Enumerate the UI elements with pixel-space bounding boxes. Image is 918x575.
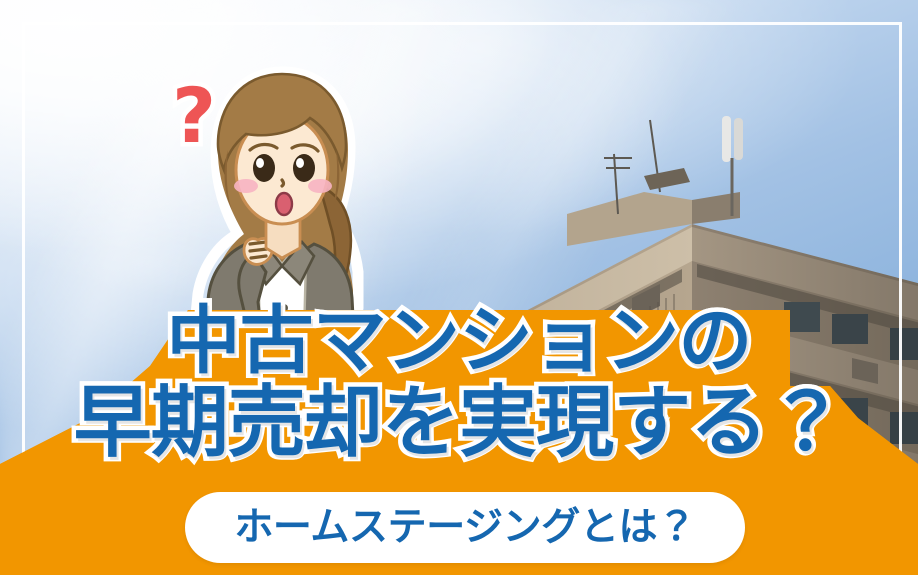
eye-left: [253, 154, 275, 182]
question-mark-icon: ?: [172, 71, 216, 160]
eye-right: [293, 154, 315, 182]
mouth: [276, 193, 292, 215]
roof-box: [644, 168, 690, 190]
subtitle-pill-text-top: ホームステージングとは？: [234, 506, 695, 550]
banner-canvas: .ol{stroke:#ffffff;stroke-width:11;strok…: [0, 0, 918, 575]
svg-text:?: ?: [172, 71, 216, 160]
subtitle-pill-top: ホームステージングとは？: [185, 492, 745, 563]
blush-left: [234, 179, 258, 193]
blush-right: [308, 179, 332, 193]
